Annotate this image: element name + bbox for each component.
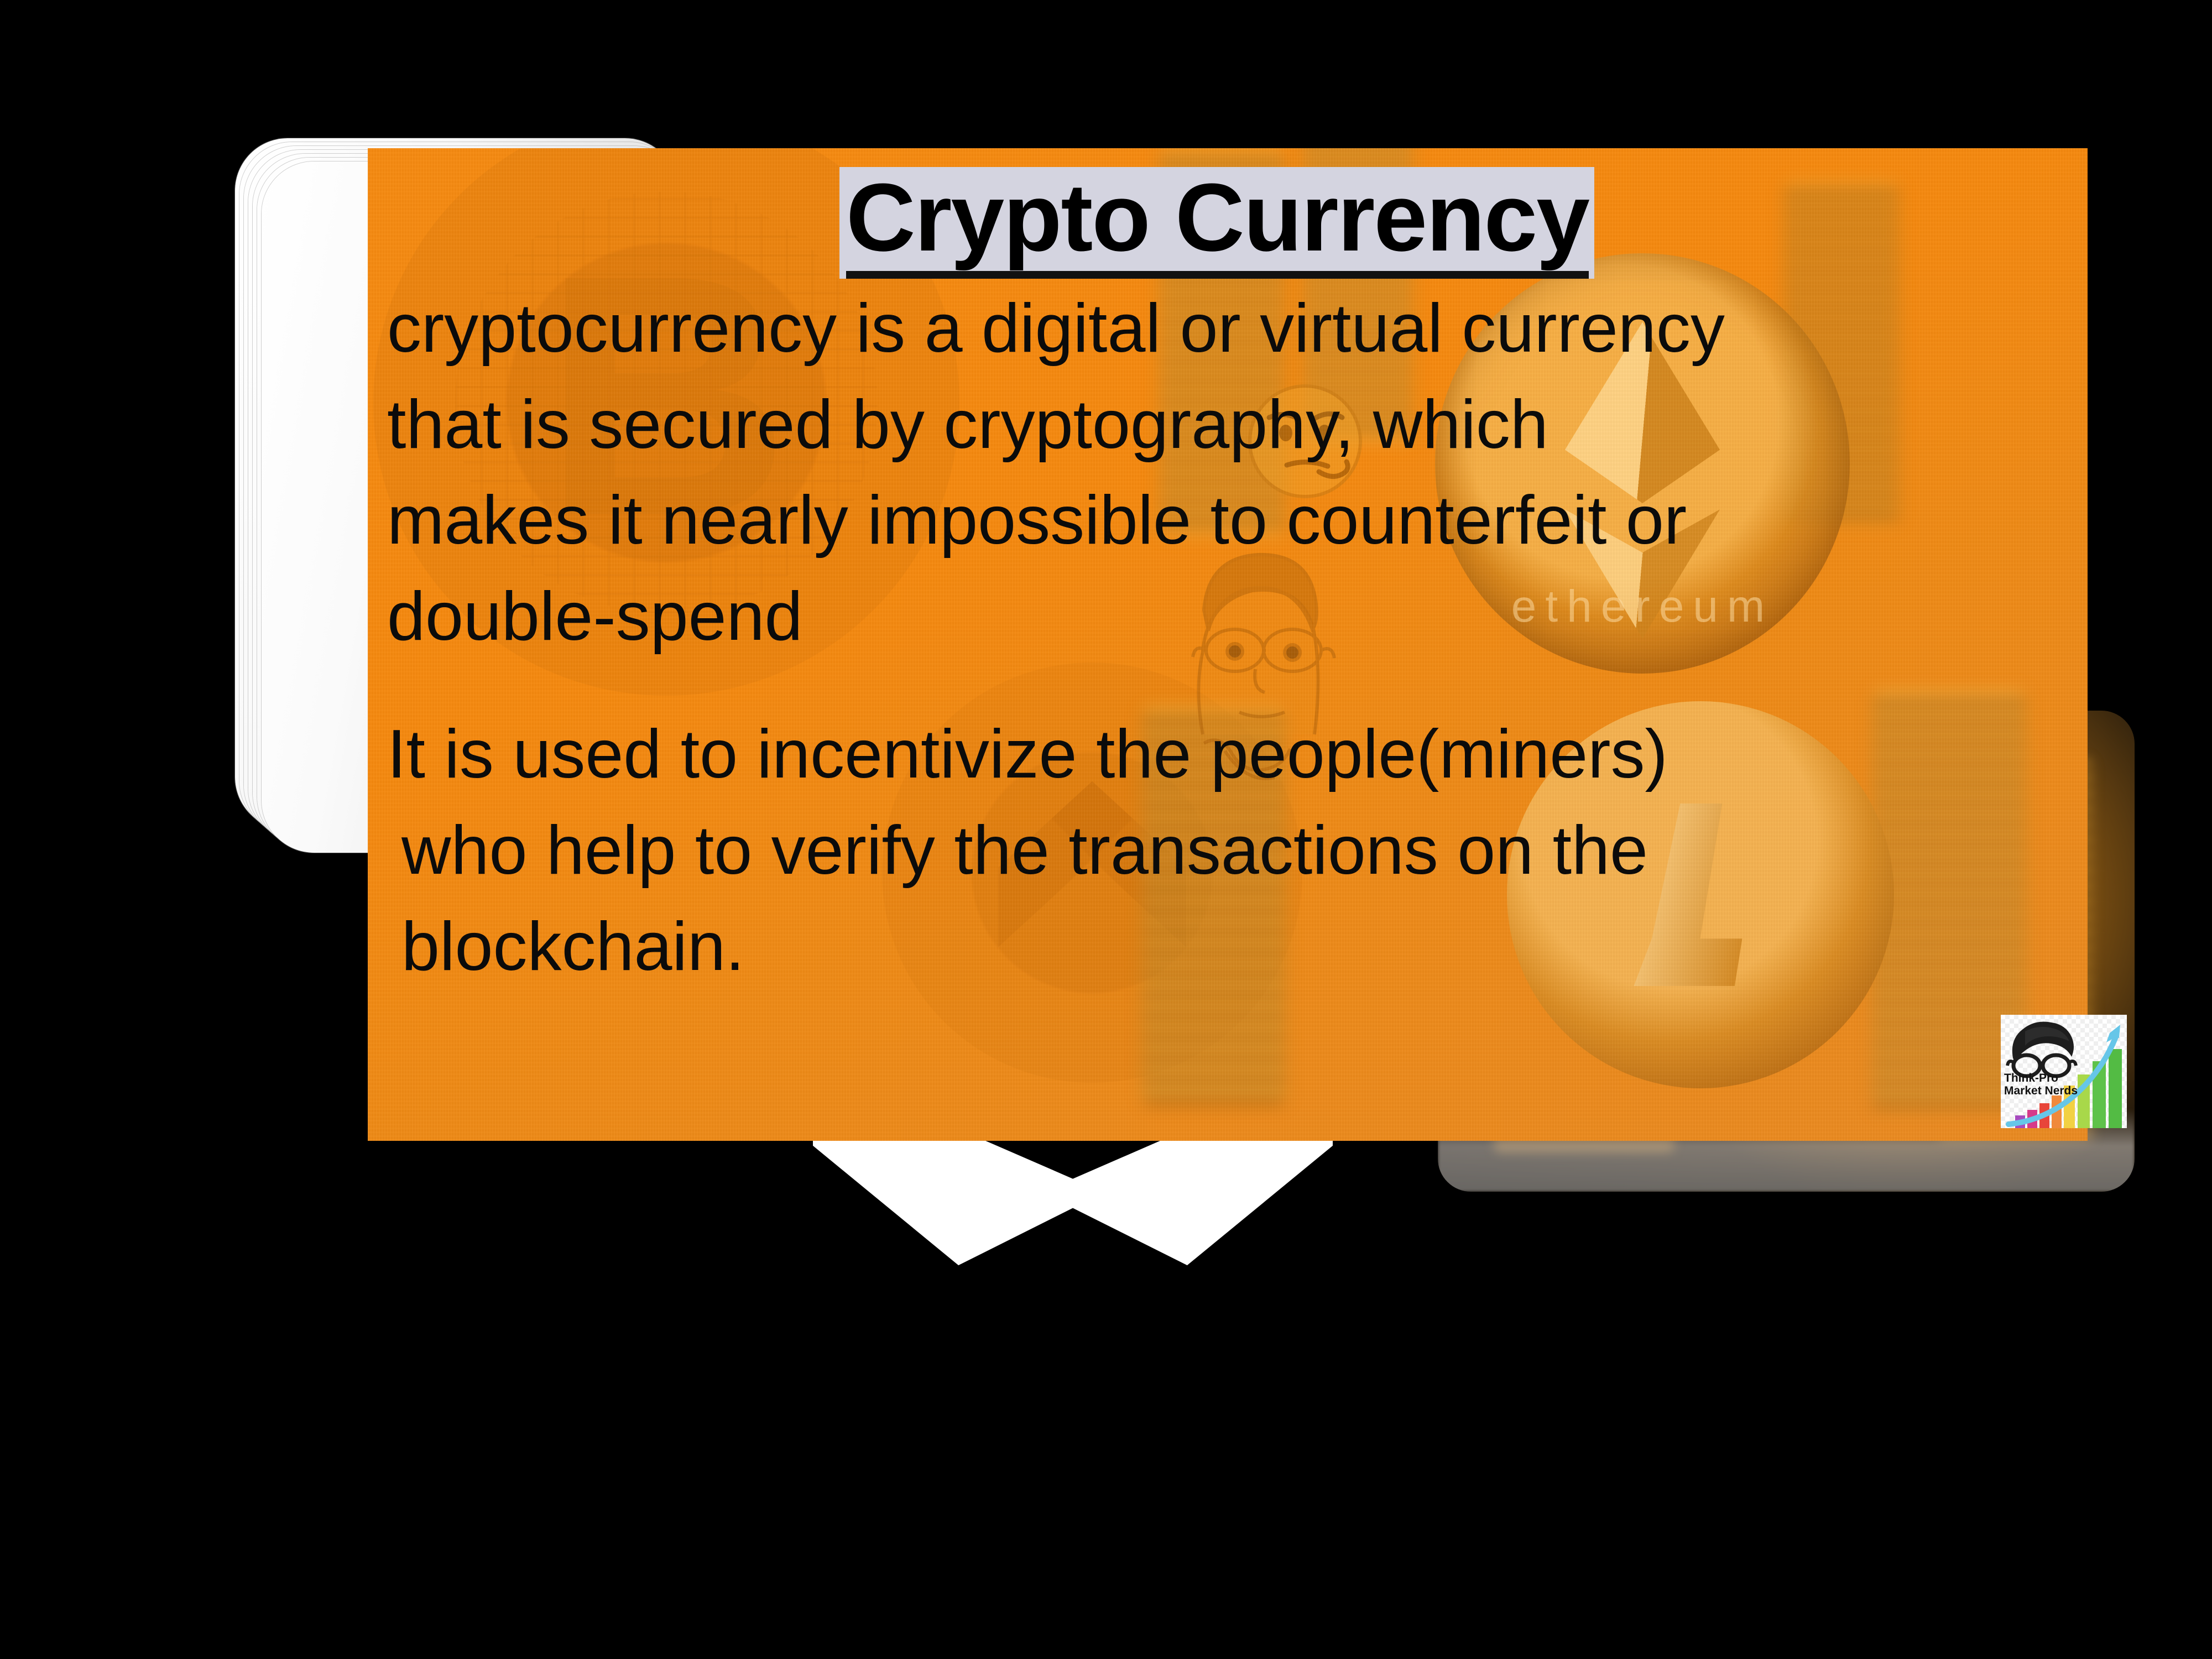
slide-title-highlight: Crypto Currency [839,167,1594,279]
page-title: Crypto Currency [846,169,1589,265]
paragraph-definition: cryptocurrency is a digital or virtual c… [387,281,2063,665]
paragraph-purpose: It is used to incentivize the people(min… [387,707,2063,995]
body-line: It is used to incentivize the people(min… [387,716,1668,792]
title-underline [846,271,1589,279]
slide-canvas: B ethereum [0,0,2212,1659]
brand-logo: Think-Pro Market Nerds [2001,1015,2127,1128]
body-line: who help to verify the transactions on t… [387,803,2063,899]
body-line: makes it nearly impossible to counterfei… [387,473,2063,569]
body-line: cryptocurrency is a digital or virtual c… [387,290,1725,367]
body-line: double-spend [387,569,2063,665]
logo-line-1: Think-Pro [2004,1072,2081,1085]
body-line: blockchain. [387,899,2063,995]
ribbon-tails [813,1138,1333,1265]
body-line: that is secured by cryptography, which [387,377,2063,473]
logo-brand-text: Think-Pro Market Nerds [2004,1072,2081,1097]
slide-body-text: cryptocurrency is a digital or virtual c… [387,281,2063,995]
logo-line-2: Market Nerds [2004,1085,2081,1098]
